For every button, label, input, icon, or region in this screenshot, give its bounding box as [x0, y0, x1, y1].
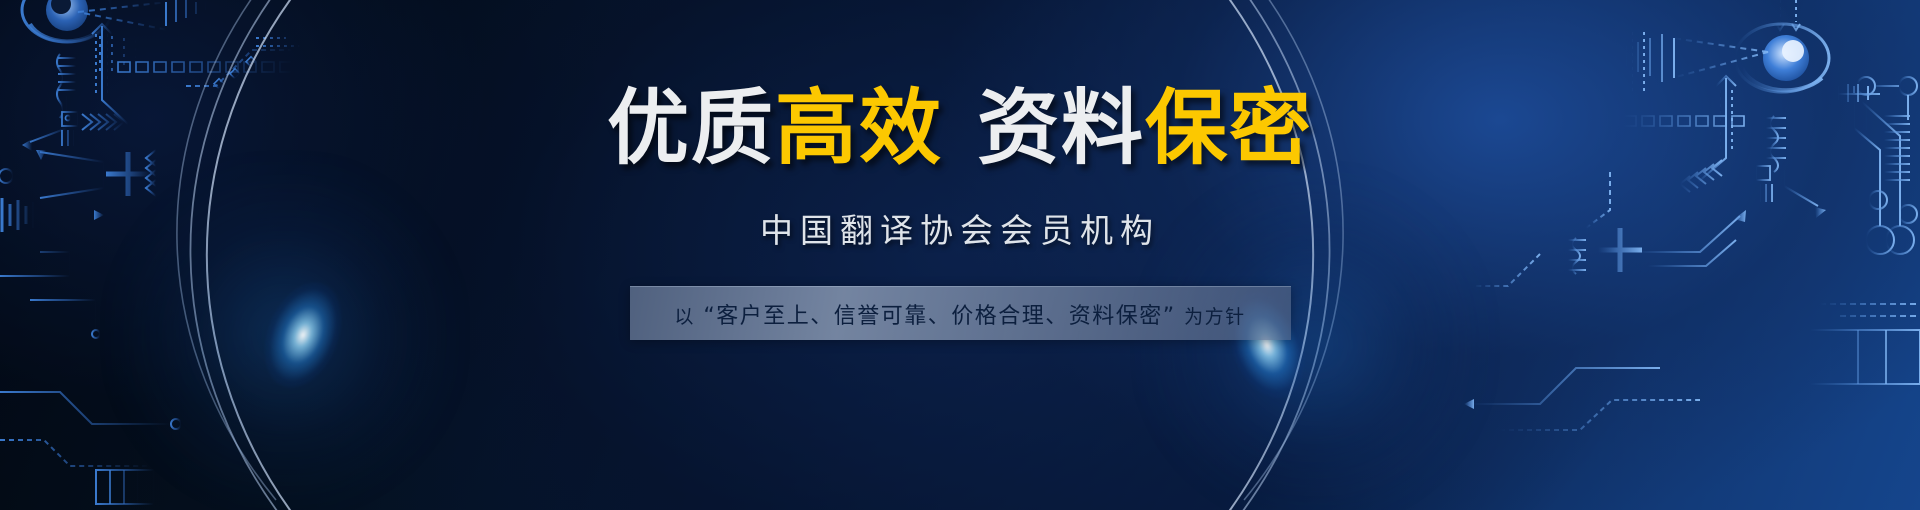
tagline-quoted: “客户至上、信誉可靠、价格合理、资料保密”	[703, 304, 1175, 329]
headline-segment-1: 优质	[607, 81, 775, 176]
banner-headline: 优质高效资料保密	[607, 88, 1313, 170]
headline-segment-2: 高效	[775, 81, 943, 176]
tagline-text: 以 “客户至上、信誉可靠、价格合理、资料保密” 为方针	[674, 298, 1245, 330]
banner-content: 优质高效资料保密 中国翻译协会会员机构 以 “客户至上、信誉可靠、价格合理、资料…	[0, 0, 1920, 510]
tagline-prefix: 以	[674, 306, 695, 328]
headline-segment-3: 资料	[977, 81, 1145, 176]
banner-subtitle: 中国翻译协会会员机构	[760, 204, 1160, 252]
hero-banner: 优质高效资料保密 中国翻译协会会员机构 以 “客户至上、信誉可靠、价格合理、资料…	[0, 0, 1920, 510]
headline-segment-4: 保密	[1145, 81, 1313, 176]
tagline-suffix: 为方针	[1184, 306, 1246, 328]
tagline-panel: 以 “客户至上、信誉可靠、价格合理、资料保密” 为方针	[630, 286, 1291, 340]
